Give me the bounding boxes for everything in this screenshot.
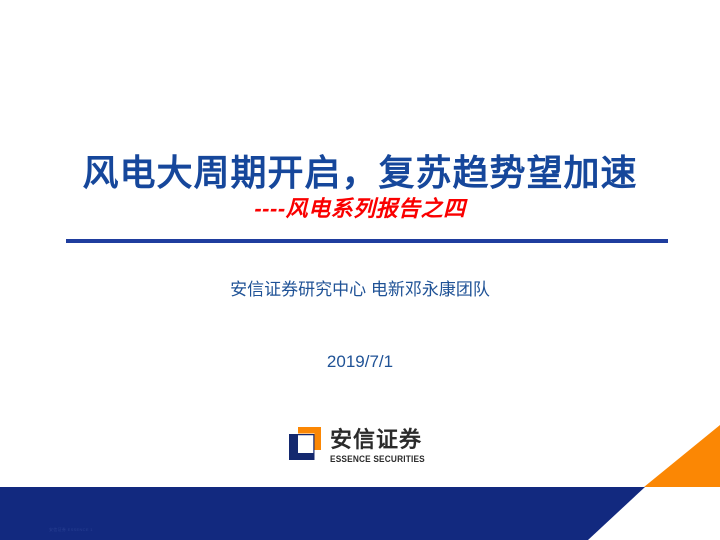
logo: 安信证券 ESSENCE SECURITIES — [286, 424, 446, 480]
date-line: 2019/7/1 — [0, 350, 720, 374]
logo-wordmark: 安信证券 ESSENCE SECURITIES — [330, 424, 433, 465]
logo-chinese-name: 安信证券 — [330, 427, 433, 452]
logo-english-name: ESSENCE SECURITIES — [330, 453, 425, 465]
footer-accent-triangle — [644, 425, 720, 487]
footer-band — [0, 487, 720, 540]
title-divider — [66, 239, 668, 243]
page-subtitle: ----风电系列报告之四 — [0, 194, 720, 224]
author-line: 安信证券研究中心 电新邓永康团队 — [0, 277, 720, 303]
footer-watermark: 安信证券 ESSENCE 1 — [49, 527, 93, 533]
cover-slide: 风电大周期开启，复苏趋势望加速 ----风电系列报告之四 安信证券研究中心 电新… — [0, 0, 720, 540]
page-title: 风电大周期开启，复苏趋势望加速 — [0, 150, 720, 196]
essence-securities-logo-mark — [286, 426, 322, 462]
